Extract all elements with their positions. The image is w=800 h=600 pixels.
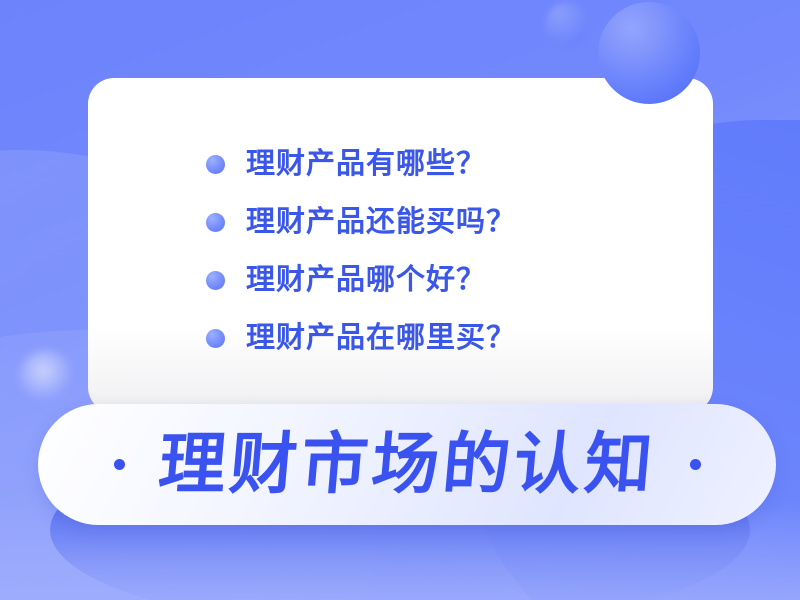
bullet-dot-icon (206, 155, 225, 174)
glow-bubble-icon (18, 350, 74, 402)
question-text: 理财产品在哪里买？ (246, 324, 516, 353)
banner-title: 理财市场的认知 (156, 431, 659, 498)
decorative-dot-icon (114, 459, 125, 470)
small-blurred-circle-shape (545, 2, 589, 46)
question-text: 理财产品还能买吗？ (246, 208, 516, 237)
list-item[interactable]: 理财产品在哪里买？ (206, 309, 713, 367)
poster-canvas: 理财产品有哪些？ 理财产品还能买吗？ 理财产品哪个好？ 理财产品在哪里买？ 理财… (0, 0, 800, 600)
list-item[interactable]: 理财产品哪个好？ (206, 251, 713, 309)
question-text: 理财产品哪个好？ (246, 266, 486, 295)
bullet-dot-icon (206, 329, 225, 348)
title-banner: 理财市场的认知 (38, 404, 776, 525)
list-item[interactable]: 理财产品还能买吗？ (206, 193, 713, 251)
list-item[interactable]: 理财产品有哪些？ (206, 135, 713, 193)
question-text: 理财产品有哪些？ (246, 150, 486, 179)
bullet-dot-icon (206, 271, 225, 290)
question-list: 理财产品有哪些？ 理财产品还能买吗？ 理财产品哪个好？ 理财产品在哪里买？ (88, 78, 713, 367)
decorative-dot-icon (690, 459, 701, 470)
bullet-dot-icon (206, 213, 225, 232)
